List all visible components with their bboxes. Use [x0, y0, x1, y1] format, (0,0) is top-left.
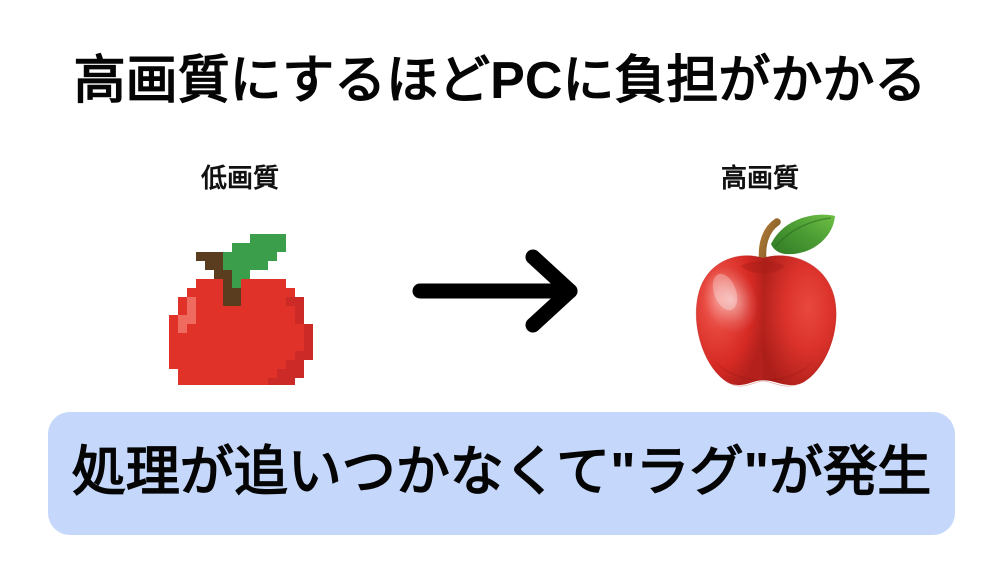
- right-arrow-icon: [410, 248, 590, 334]
- pixelated-apple-image: [160, 205, 320, 385]
- conclusion-banner: 処理が追いつかなくて"ラグ"が発生: [48, 412, 955, 535]
- low-quality-label: 低画質: [120, 158, 360, 195]
- conclusion-banner-text: 処理が追いつかなくて"ラグ"が発生: [72, 445, 932, 503]
- high-quality-label: 高画質: [640, 158, 880, 195]
- page-title: 高画質にするほどPCに負担がかかる: [0, 52, 1000, 112]
- slide-canvas: 高画質にするほどPCに負担がかかる 低画質 高画質: [0, 0, 1000, 563]
- smooth-apple-image: [685, 200, 850, 390]
